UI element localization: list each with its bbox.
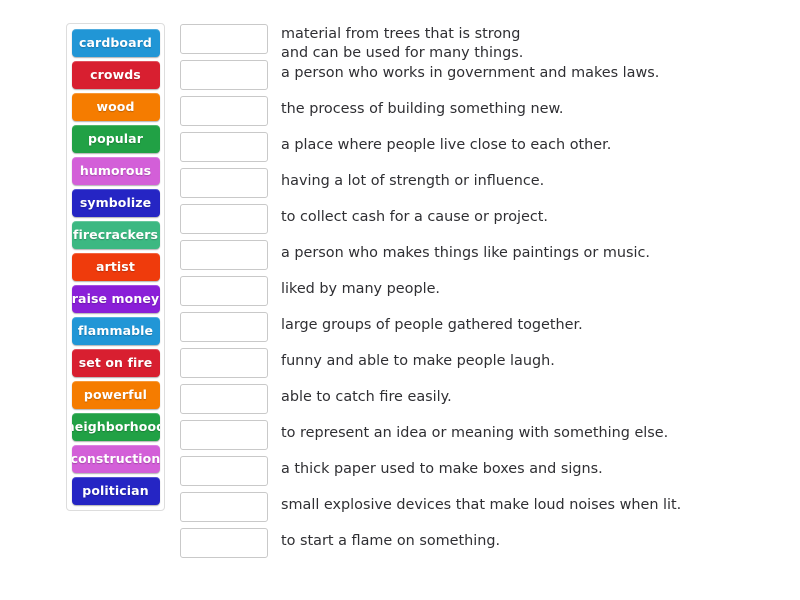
definition-text: a person who makes things like paintings… [281, 239, 780, 263]
definition-text: able to catch fire easily. [281, 383, 780, 407]
definition-text: to start a flame on something. [281, 527, 780, 551]
definition-text: a place where people live close to each … [281, 131, 780, 155]
answer-row: a thick paper used to make boxes and sig… [180, 455, 780, 491]
definition-text: to represent an idea or meaning with som… [281, 419, 780, 443]
answer-drop-box[interactable] [180, 60, 268, 90]
answer-drop-box[interactable] [180, 240, 268, 270]
answer-drop-box[interactable] [180, 384, 268, 414]
matching-activity: cardboardcrowdswoodpopularhumoroussymbol… [0, 0, 800, 600]
answer-drop-box[interactable] [180, 96, 268, 126]
definition-text: small explosive devices that make loud n… [281, 491, 780, 515]
word-tile[interactable]: powerful [72, 381, 160, 409]
answer-row: to represent an idea or meaning with som… [180, 419, 780, 455]
definition-text: liked by many people. [281, 275, 780, 299]
answer-drop-box[interactable] [180, 456, 268, 486]
definition-text: the process of building something new. [281, 95, 780, 119]
answer-row: to start a flame on something. [180, 527, 780, 563]
word-tile[interactable]: symbolize [72, 189, 160, 217]
definition-text: to collect cash for a cause or project. [281, 203, 780, 227]
word-tile[interactable]: crowds [72, 61, 160, 89]
word-tile[interactable]: humorous [72, 157, 160, 185]
answer-drop-box[interactable] [180, 528, 268, 558]
answer-row: small explosive devices that make loud n… [180, 491, 780, 527]
word-tile[interactable]: wood [72, 93, 160, 121]
answer-row: large groups of people gathered together… [180, 311, 780, 347]
answer-drop-box[interactable] [180, 276, 268, 306]
definition-text: a person who works in government and mak… [281, 59, 780, 83]
word-tile[interactable]: flammable [72, 317, 160, 345]
answer-rows-list: material from trees that is strong and c… [180, 23, 780, 563]
definition-text: material from trees that is strong and c… [281, 23, 780, 63]
answer-row: able to catch fire easily. [180, 383, 780, 419]
answer-row: to collect cash for a cause or project. [180, 203, 780, 239]
answer-row: material from trees that is strong and c… [180, 23, 780, 59]
answer-row: a place where people live close to each … [180, 131, 780, 167]
answer-row: liked by many people. [180, 275, 780, 311]
definition-text: a thick paper used to make boxes and sig… [281, 455, 780, 479]
word-tile[interactable]: neighborhood [72, 413, 160, 441]
word-tile[interactable]: popular [72, 125, 160, 153]
word-tile[interactable]: set on fire [72, 349, 160, 377]
definition-text: funny and able to make people laugh. [281, 347, 780, 371]
definition-text: having a lot of strength or influence. [281, 167, 780, 191]
answer-row: the process of building something new. [180, 95, 780, 131]
word-tile[interactable]: firecrackers [72, 221, 160, 249]
answer-drop-box[interactable] [180, 312, 268, 342]
answer-row: a person who makes things like paintings… [180, 239, 780, 275]
answer-drop-box[interactable] [180, 348, 268, 378]
word-tile[interactable]: politician [72, 477, 160, 505]
word-tile[interactable]: cardboard [72, 29, 160, 57]
answer-drop-box[interactable] [180, 492, 268, 522]
definition-text: large groups of people gathered together… [281, 311, 780, 335]
answer-row: a person who works in government and mak… [180, 59, 780, 95]
word-bank-panel: cardboardcrowdswoodpopularhumoroussymbol… [66, 23, 165, 511]
word-tile[interactable]: construction [72, 445, 160, 473]
word-tile[interactable]: artist [72, 253, 160, 281]
answer-row: funny and able to make people laugh. [180, 347, 780, 383]
word-tile[interactable]: raise money [72, 285, 160, 313]
answer-drop-box[interactable] [180, 204, 268, 234]
answer-row: having a lot of strength or influence. [180, 167, 780, 203]
answer-drop-box[interactable] [180, 168, 268, 198]
answer-drop-box[interactable] [180, 420, 268, 450]
answer-drop-box[interactable] [180, 132, 268, 162]
answer-drop-box[interactable] [180, 24, 268, 54]
